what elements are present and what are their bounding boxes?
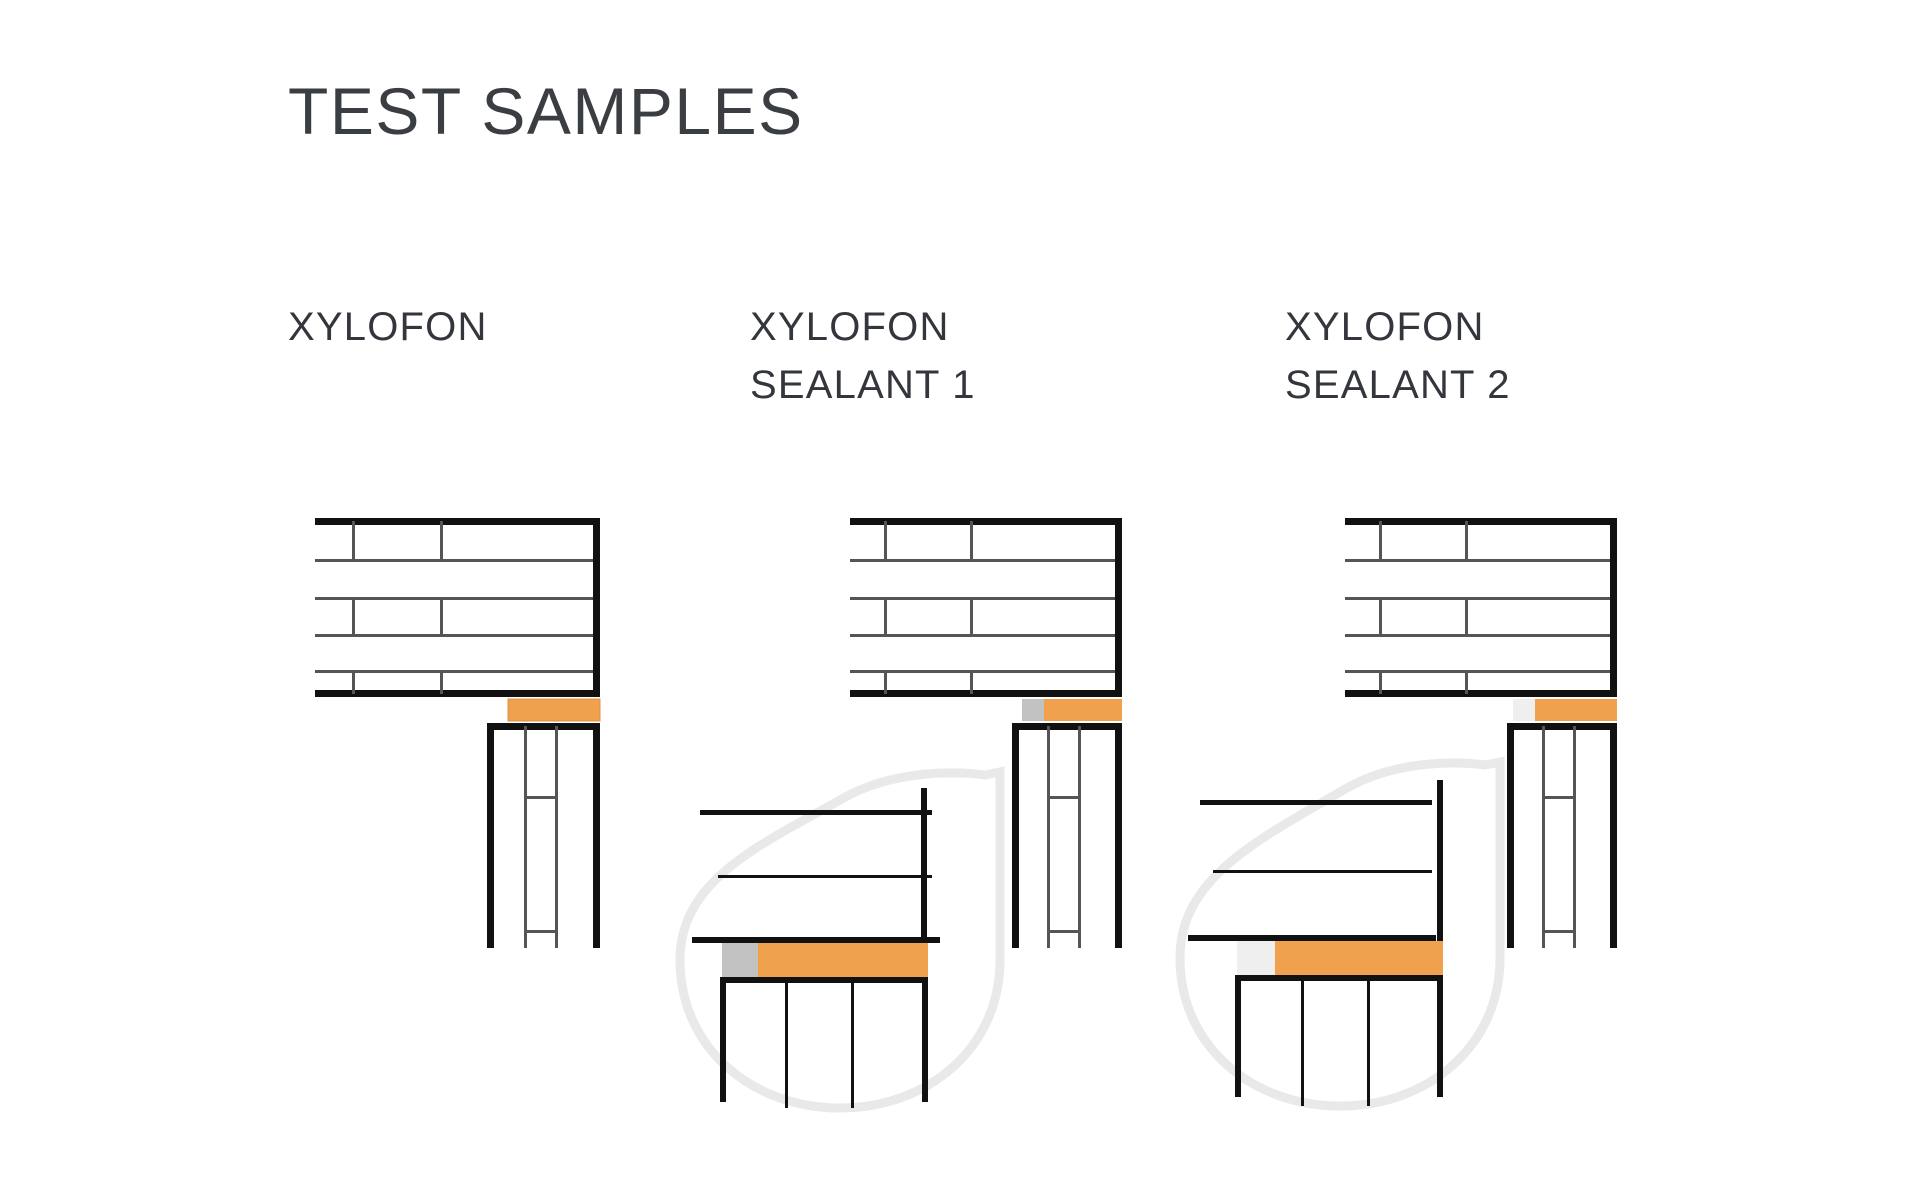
detail-post-inner-line [1367, 981, 1370, 1106]
page-title: TEST SAMPLES [288, 78, 804, 144]
detail-xylofon-strip [1275, 941, 1443, 975]
post-inner-line [1047, 726, 1050, 948]
sample-label-xylofon: XYLOFON [288, 298, 488, 356]
cladding-bottom-edge [1345, 690, 1617, 697]
xylofon-strip-3 [1535, 699, 1617, 721]
cladding-hairline [850, 597, 1115, 600]
post-top-edge [487, 723, 600, 730]
cladding-board-joint [1465, 521, 1468, 562]
xylofon-strip-2 [1044, 699, 1122, 721]
sealant-bead-3 [1513, 699, 1535, 721]
drawing-sample-xylofon-sealant-1 [680, 518, 1122, 1108]
cladding-top-edge [1345, 518, 1617, 525]
cladding-right-edge [593, 518, 600, 697]
detail-post-inner-line [1301, 981, 1304, 1106]
cladding-hairline [850, 559, 1115, 562]
detail-cladding-hairline [718, 875, 932, 878]
diagram-canvas: TEST SAMPLES XYLOFON XYLOFON SEALANT 1 X… [0, 0, 1920, 1200]
sealant-bead-2 [1022, 699, 1044, 721]
drawing-sample-xylofon [315, 518, 600, 948]
post-cross-line [524, 796, 558, 799]
post-inner-line [1573, 726, 1576, 948]
post-right-edge [593, 723, 600, 948]
detail-cladding-hairline [1213, 870, 1432, 873]
cladding-boards-2 [850, 518, 1122, 697]
post-cross-line [1047, 930, 1081, 933]
cladding-hairline [1345, 559, 1610, 562]
detail-magnifier-3 [1180, 762, 1500, 1106]
post-top-edge [1507, 723, 1617, 730]
detail-cladding-hairline [1200, 800, 1432, 805]
cladding-board-joint [440, 597, 443, 637]
cladding-board-joint [352, 597, 355, 637]
support-post-3 [1507, 723, 1617, 948]
cladding-hairline [1345, 597, 1610, 600]
cladding-hairline [315, 597, 593, 600]
post-cross-line [1047, 796, 1081, 799]
cladding-board-joint [1379, 597, 1382, 637]
post-cross-line [524, 930, 558, 933]
cladding-board-joint [1379, 521, 1382, 562]
detail-cladding-right-edge [921, 788, 927, 943]
post-right-edge [1610, 723, 1617, 948]
cladding-top-edge [850, 518, 1122, 525]
post-inner-line [1542, 726, 1545, 948]
detail-post-left-edge [1235, 975, 1241, 1097]
cladding-hairline [315, 670, 593, 673]
cladding-hairline [1345, 670, 1610, 673]
detail-sealant-bead [1237, 941, 1275, 975]
sample-label-xylofon-sealant-1: XYLOFON SEALANT 1 [750, 298, 976, 414]
cladding-board-joint [1465, 670, 1468, 694]
cladding-hairline [315, 634, 593, 637]
cladding-board-joint [352, 670, 355, 694]
cladding-hairline [1345, 634, 1610, 637]
support-post-1 [487, 723, 600, 948]
cladding-board-joint [1465, 597, 1468, 637]
magnifier-outline-icon [1180, 762, 1500, 1106]
cladding-board-joint [440, 521, 443, 562]
support-post-2 [1012, 723, 1122, 948]
cladding-bottom-edge [850, 690, 1122, 697]
detail-cladding-bottom-edge [692, 937, 940, 943]
detail-xylofon-strip [758, 943, 928, 977]
technical-drawings-layer [0, 0, 1920, 1200]
post-left-edge [487, 723, 494, 948]
drawing-sample-xylofon-sealant-2 [1180, 518, 1617, 1106]
cladding-board-joint [1379, 670, 1382, 694]
cladding-board-joint [884, 521, 887, 562]
detail-cladding-hairline [700, 810, 932, 815]
cladding-boards-3 [1345, 518, 1617, 697]
cladding-hairline [850, 634, 1115, 637]
cladding-board-joint [970, 521, 973, 562]
xylofon-strip-1 [508, 699, 600, 721]
post-cross-line [1542, 796, 1576, 799]
detail-cladding-right-edge [1437, 780, 1443, 942]
detail-post-top-edge [720, 977, 928, 983]
cladding-hairline [850, 670, 1115, 673]
xylofon-strip-outline [508, 699, 600, 721]
cladding-board-joint [440, 670, 443, 694]
post-right-edge [1115, 723, 1122, 948]
cladding-board-joint [970, 597, 973, 637]
cladding-board-joint [970, 670, 973, 694]
detail-post-right-edge [922, 977, 928, 1102]
cladding-bottom-edge [315, 690, 600, 697]
post-cross-line [1542, 930, 1576, 933]
cladding-hairline [315, 559, 593, 562]
cladding-board-joint [352, 521, 355, 562]
cladding-boards-1 [315, 518, 600, 697]
detail-sealant-bead [722, 943, 758, 977]
post-inner-line [524, 726, 527, 948]
post-inner-line [555, 726, 558, 948]
cladding-right-edge [1610, 518, 1617, 697]
detail-post-right-edge [1437, 975, 1443, 1097]
detail-post-inner-line [785, 983, 788, 1108]
magnifier-outline-icon [680, 772, 1000, 1108]
detail-cladding-bottom-edge [1188, 935, 1436, 941]
detail-magnifier-2 [680, 772, 1000, 1108]
detail-post-left-edge [720, 977, 726, 1102]
cladding-board-joint [884, 670, 887, 694]
post-left-edge [1507, 723, 1514, 948]
detail-post-inner-line [851, 983, 854, 1108]
cladding-board-joint [884, 597, 887, 637]
cladding-top-edge [315, 518, 600, 525]
detail-post-top-edge [1235, 975, 1443, 981]
post-top-edge [1012, 723, 1122, 730]
post-inner-line [1078, 726, 1081, 948]
sample-label-xylofon-sealant-2: XYLOFON SEALANT 2 [1285, 298, 1511, 414]
post-left-edge [1012, 723, 1019, 948]
cladding-right-edge [1115, 518, 1122, 697]
